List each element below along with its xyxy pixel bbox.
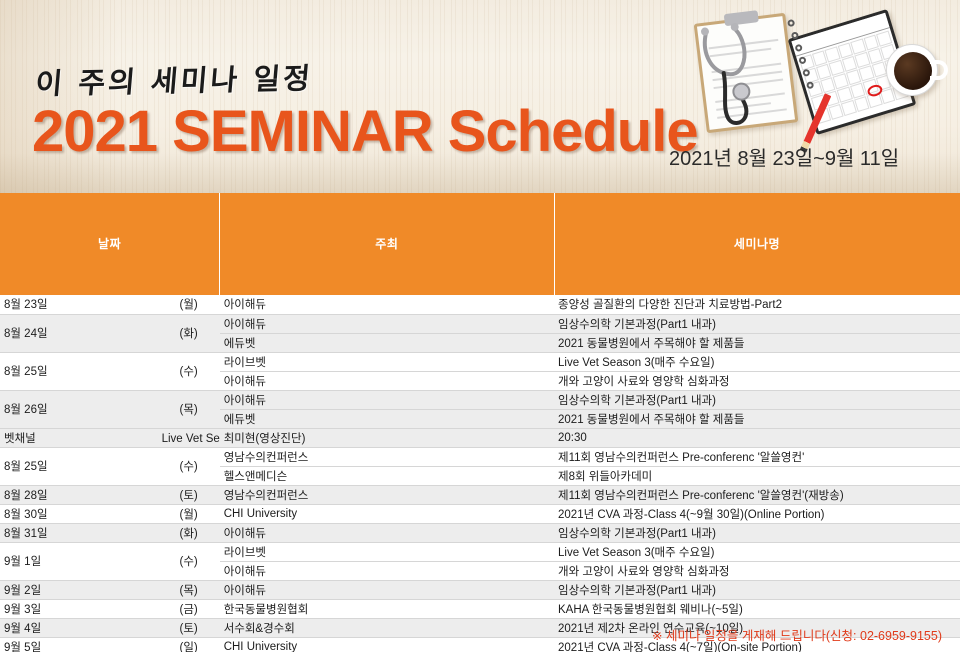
date-range-label: 2021년 8월 23일~9월 11일 — [669, 142, 899, 171]
cell-seminar-name: 제11회 영남수의컨퍼런스 Pre-conferenc '알쓸영컨'(재방송) — [554, 485, 960, 504]
cell-host: 아이해듀 — [220, 371, 554, 390]
cell-dayofweek: (수) — [158, 542, 220, 580]
cell-host: 에듀벳 — [220, 333, 554, 352]
cell-date: 9월 2일 — [0, 580, 158, 599]
table-row: 8월 25일(수)영남수의컨퍼런스제11회 영남수의컨퍼런스 Pre-confe… — [0, 447, 960, 466]
cell-host: 아이해듀 — [220, 523, 554, 542]
cell-date: 8월 26일 — [0, 390, 158, 428]
cell-date: 8월 25일 — [0, 352, 158, 390]
col-header-name: 세미나명 — [554, 193, 960, 295]
cell-host: CHI University — [220, 637, 554, 652]
saucer-icon — [878, 56, 948, 104]
cell-seminar-name: 2021년 CVA 과정-Class 4(~9월 30일)(Online Por… — [554, 504, 960, 523]
calendar-spiral-icon — [787, 19, 816, 96]
table-row: 9월 2일(목)아이해듀임상수의학 기본과정(Part1 내과)남예림(요검사,… — [0, 580, 960, 599]
cell-host: CHI University — [220, 504, 554, 523]
cell-host: 아이해듀 — [220, 390, 554, 409]
cell-dayofweek: (토) — [158, 618, 220, 637]
seminar-schedule-page: 이 주의 세미나 일정 2021 SEMINAR Schedule 2021년 … — [0, 0, 960, 652]
cell-seminar-name: 2021 동물병원에서 주목해야 할 제품들 — [554, 409, 960, 428]
cell-seminar-name: Live Vet Season 3(매주 수요일) — [554, 542, 960, 561]
cell-dayofweek: (월) — [158, 295, 220, 314]
cell-host: 서수회&경수회 — [220, 618, 554, 637]
clipboard-clip-icon — [724, 10, 759, 26]
cell-date: 8월 25일 — [0, 447, 158, 485]
table-row: 8월 30일(월)CHI University2021년 CVA 과정-Clas… — [0, 504, 960, 523]
cell-host: 아이해듀 — [220, 561, 554, 580]
cell-host: 에듀벳 — [220, 409, 554, 428]
cell-dayofweek: (목) — [158, 580, 220, 599]
cell-host: 아이해듀 — [220, 314, 554, 333]
cell-date: 8월 28일 — [0, 485, 158, 504]
cell-seminar-name: 종양성 골질환의 다양한 진단과 치료방법-Part2 — [554, 295, 960, 314]
cell-date: 9월 4일 — [0, 618, 158, 637]
cell-host: 아이해듀 — [220, 580, 554, 599]
banner-kicker: 이 주의 세미나 일정 — [34, 55, 315, 103]
coffee-cup-icon — [886, 44, 938, 96]
table-row: 9월 3일(금)한국동물병원협회KAHA 한국동물병원협회 웨비나(~5일)김대… — [0, 599, 960, 618]
cell-seminar-name: 임상수의학 기본과정(Part1 내과) — [554, 314, 960, 333]
cell-host: 라이브벳 — [220, 542, 554, 561]
cell-dayofweek: (수) — [158, 447, 220, 485]
header-banner: 이 주의 세미나 일정 2021 SEMINAR Schedule 2021년 … — [0, 0, 960, 193]
cell-dayofweek: (화) — [158, 523, 220, 542]
cell-seminar-name: 개와 고양이 사료와 영양학 심화과정 — [554, 371, 960, 390]
cell-dayofweek: (금) — [158, 599, 220, 618]
table-row: 8월 28일(토)영남수의컨퍼런스제11회 영남수의컨퍼런스 Pre-confe… — [0, 485, 960, 504]
cell-dayofweek: (화) — [158, 314, 220, 352]
cell-date: 8월 24일 — [0, 314, 158, 352]
cell-seminar-name: 개와 고양이 사료와 영양학 심화과정 — [554, 561, 960, 580]
cell-seminar-name: Live Vet Season 3(매주 수요일) — [158, 428, 220, 447]
cell-dayofweek: (목) — [158, 390, 220, 428]
cell-speaker: 최미현(영상진단) — [220, 428, 554, 447]
page-title: 2021 SEMINAR Schedule — [32, 98, 698, 165]
cell-host: 영남수의컨퍼런스 — [220, 447, 554, 466]
table-header: 날짜 주최 세미나명 연자(강의과목) 시간 장소 문의 — [0, 193, 960, 295]
col-header-date: 날짜 — [0, 193, 220, 295]
table-body: 8월 23일(월)아이해듀종양성 골질환의 다양한 진단과 치료방법-Part2… — [0, 295, 960, 652]
cell-host: 벳채널 — [0, 428, 158, 447]
cell-date: 9월 3일 — [0, 599, 158, 618]
table-row: 8월 24일(화)아이해듀임상수의학 기본과정(Part1 내과)김진경(병력청… — [0, 314, 960, 333]
cell-seminar-name: KAHA 한국동물병원협회 웨비나(~5일) — [554, 599, 960, 618]
cell-dayofweek: (토) — [158, 485, 220, 504]
table-row: 8월 25일(수)라이브벳Live Vet Season 3(매주 수요일)최미… — [0, 352, 960, 371]
schedule-table: 날짜 주최 세미나명 연자(강의과목) 시간 장소 문의 8월 23일(월)아이… — [0, 193, 960, 652]
cell-date: 9월 5일 — [0, 637, 158, 652]
cell-date: 8월 31일 — [0, 523, 158, 542]
calendar-highlight-icon — [866, 83, 884, 98]
cell-host: 아이해듀 — [220, 295, 554, 314]
cell-dayofweek: (일) — [158, 637, 220, 652]
cell-date: 8월 30일 — [0, 504, 158, 523]
col-header-host: 주최 — [220, 193, 554, 295]
cell-seminar-name: 제8회 위들아카데미 — [554, 466, 960, 485]
clipboard-icon — [694, 13, 799, 133]
cell-seminar-name: 임상수의학 기본과정(Part1 내과) — [554, 523, 960, 542]
cell-dayofweek: (수) — [158, 352, 220, 390]
cell-dayofweek: (월) — [158, 504, 220, 523]
table-row: 벳채널Live Vet Season 3(매주 수요일)최미현(영상진단)20:… — [0, 428, 960, 447]
cell-date: 8월 23일 — [0, 295, 158, 314]
table-row: 8월 26일(목)아이해듀임상수의학 기본과정(Part1 내과)남예림(기본 … — [0, 390, 960, 409]
cell-host: 라이브벳 — [220, 352, 554, 371]
table-row: 8월 31일(화)아이해듀임상수의학 기본과정(Part1 내과)남예림(기본 … — [0, 523, 960, 542]
cell-time: 20:30 — [554, 428, 960, 447]
cell-date: 9월 1일 — [0, 542, 158, 580]
cell-host: 영남수의컨퍼런스 — [220, 485, 554, 504]
cell-seminar-name: 임상수의학 기본과정(Part1 내과) — [554, 390, 960, 409]
cell-seminar-name: 2021 동물병원에서 주목해야 할 제품들 — [554, 333, 960, 352]
schedule-table-wrap: 날짜 주최 세미나명 연자(강의과목) 시간 장소 문의 8월 23일(월)아이… — [0, 193, 960, 652]
cell-seminar-name: 임상수의학 기본과정(Part1 내과) — [554, 580, 960, 599]
table-row: 9월 1일(수)라이브벳Live Vet Season 3(매주 수요일)남의화… — [0, 542, 960, 561]
cell-host: 한국동물병원협회 — [220, 599, 554, 618]
footnote-text: ※ 세미나 일정을 게재해 드립니다(신청: 02-6959-9155) — [652, 625, 942, 644]
cell-seminar-name: Live Vet Season 3(매주 수요일) — [554, 352, 960, 371]
table-row: 8월 23일(월)아이해듀종양성 골질환의 다양한 진단과 치료방법-Part2… — [0, 295, 960, 314]
cell-seminar-name: 제11회 영남수의컨퍼런스 Pre-conferenc '알쓸영컨' — [554, 447, 960, 466]
cell-host: 헬스앤메디슨 — [220, 466, 554, 485]
stethoscope-icon — [689, 19, 782, 134]
